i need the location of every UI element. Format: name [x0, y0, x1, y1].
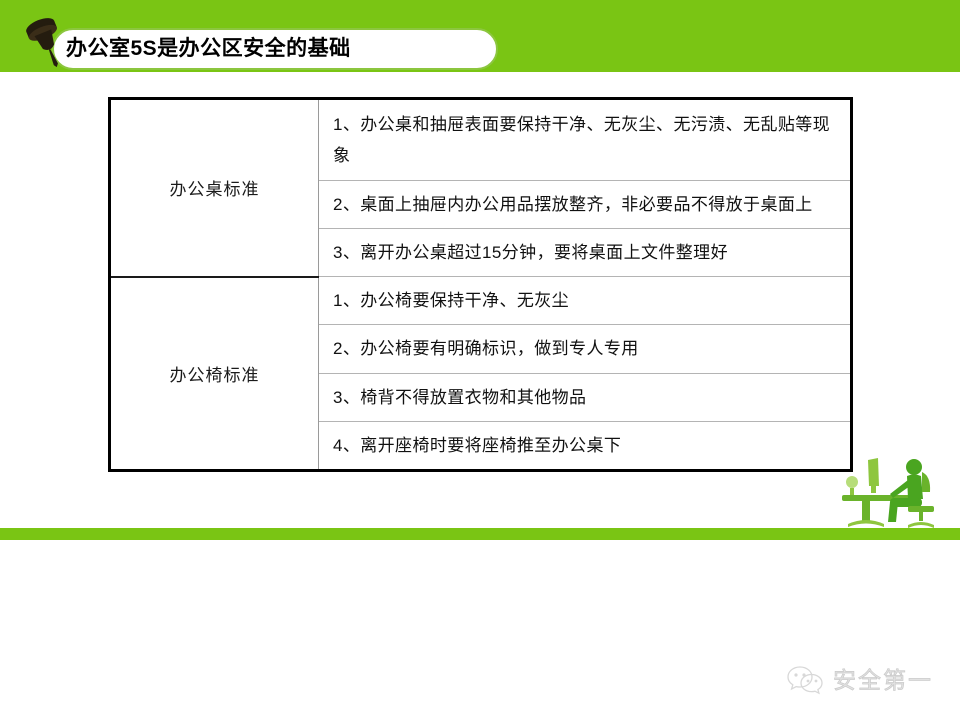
item-cell: 3、离开办公桌超过15分钟，要将桌面上文件整理好	[319, 228, 851, 276]
person-at-desk-icon	[838, 452, 950, 530]
category-cell-chair: 办公椅标准	[111, 277, 319, 469]
item-cell: 2、办公椅要有明确标识，做到专人专用	[319, 325, 851, 373]
wechat-logo-icon	[786, 664, 824, 696]
category-cell-desk: 办公桌标准	[111, 100, 319, 277]
item-cell: 3、椅背不得放置衣物和其他物品	[319, 373, 851, 421]
item-cell: 1、办公椅要保持干净、无灰尘	[319, 277, 851, 325]
table-row: 办公椅标准 1、办公椅要保持干净、无灰尘	[111, 277, 850, 325]
pushpin-icon	[18, 16, 76, 70]
footer-watermark: 安全第一	[786, 658, 956, 702]
item-cell: 4、离开座椅时要将座椅推至办公桌下	[319, 421, 851, 469]
table-row: 办公桌标准 1、办公桌和抽屉表面要保持干净、无灰尘、无污渍、无乱贴等现象	[111, 100, 850, 180]
item-cell: 2、桌面上抽屉内办公用品摆放整齐，非必要品不得放于桌面上	[319, 180, 851, 228]
item-cell: 1、办公桌和抽屉表面要保持干净、无灰尘、无污渍、无乱贴等现象	[319, 100, 851, 180]
page-title: 办公室5S是办公区安全的基础	[66, 31, 486, 67]
footer-text: 安全第一	[833, 664, 933, 696]
standards-table: 办公桌标准 1、办公桌和抽屉表面要保持干净、无灰尘、无污渍、无乱贴等现象 2、桌…	[108, 97, 853, 472]
bottom-green-bar	[0, 528, 960, 540]
